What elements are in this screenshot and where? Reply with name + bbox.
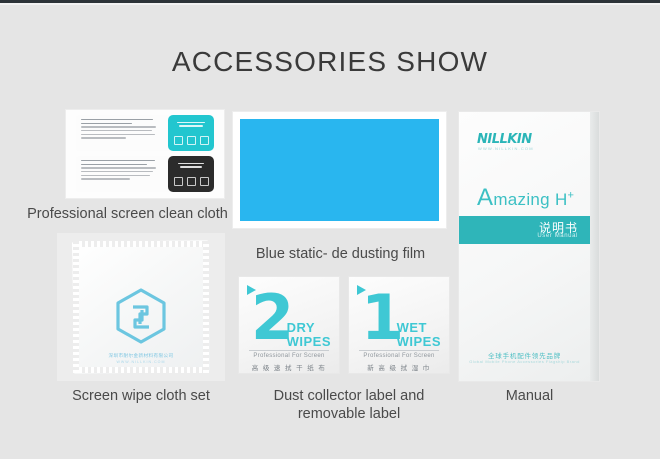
divider xyxy=(249,350,329,351)
page-title: ACCESSORIES SHOW xyxy=(0,46,660,78)
packet-instructions-text xyxy=(76,115,168,151)
packet-chip-icons xyxy=(168,136,214,145)
manual-title-band: 说明书 User Manual xyxy=(459,216,590,244)
accessories-showcase-banner: ACCESSORIES SHOW xyxy=(0,5,660,459)
cloth-edge-bottom xyxy=(73,367,209,373)
dry-wipes-word2: WIPES xyxy=(287,335,331,349)
dry-wipes-label: 2 DRY WIPES Professional For Screen 高 级 … xyxy=(239,277,339,373)
caption-clean-cloth: Professional screen clean cloth xyxy=(20,205,235,223)
wet-wipes-word1: WET xyxy=(397,321,441,335)
packet-chip-cyan xyxy=(168,115,214,151)
packet-chip-dark xyxy=(168,156,214,192)
dry-wipes-sub-en: Professional For Screen xyxy=(239,353,339,359)
dry-wipes-words: DRY WIPES xyxy=(287,321,331,349)
caption-wipes: Dust collector label and removable label xyxy=(243,387,455,423)
caption-wipe-cloth: Screen wipe cloth set xyxy=(55,387,227,405)
cloth-edge-top xyxy=(73,241,209,247)
cloth-brand-cn: 深圳市耐尔金新材料有限公司 xyxy=(73,353,209,359)
product-plus: + xyxy=(568,189,575,201)
wet-wipes-word2: WIPES xyxy=(397,335,441,349)
manual-title-en: User Manual xyxy=(537,233,578,239)
packet-instructions-text xyxy=(76,156,168,192)
cloth-brand-en: WWW.NILLKIN.COM xyxy=(73,360,209,364)
divider xyxy=(359,350,439,351)
product-suffix: H xyxy=(555,190,568,209)
nillkin-logo-sub: WWW.NILLKIN.COM xyxy=(478,146,534,151)
dry-wipes-word1: DRY xyxy=(287,321,331,335)
manual-product-title: Amazing H+ xyxy=(477,184,574,212)
blue-film-photo xyxy=(233,112,446,228)
packet-chip-icons xyxy=(168,177,214,186)
wet-wipes-sub-cn: 新 高 级 拭 湿 巾 xyxy=(349,362,449,372)
wet-wipes-words: WET WIPES xyxy=(397,321,441,349)
product-name: mazing xyxy=(493,190,550,209)
clean-cloth-packet-dark xyxy=(76,156,214,192)
manual-page-fold xyxy=(590,112,599,381)
caption-manual: Manual xyxy=(462,387,597,405)
wet-wipes-sub-en: Professional For Screen xyxy=(349,353,449,359)
manual-footer-en: Global Mobile Phone Accessories Flagship… xyxy=(459,359,590,364)
blue-film-sheet xyxy=(240,119,439,221)
wipe-cloth-photo: 深圳市耐尔金新材料有限公司 WWW.NILLKIN.COM xyxy=(57,233,225,381)
caption-blue-film: Blue static- de dusting film xyxy=(238,245,443,263)
wet-wipes-label: 1 WET WIPES Professional For Screen 新 高 … xyxy=(349,277,449,373)
hexagon-logo-icon xyxy=(109,285,173,349)
product-initial: A xyxy=(477,184,493,211)
clean-cloth-photo xyxy=(66,110,224,198)
manual-photo: NILLKIN WWW.NILLKIN.COM Amazing H+ 说明书 U… xyxy=(459,112,599,381)
dry-wipes-sub-cn: 高 级 速 拭 干 纸 布 xyxy=(239,362,339,372)
clean-cloth-packet-cyan xyxy=(76,115,214,151)
nillkin-logo: NILLKIN xyxy=(477,132,532,147)
